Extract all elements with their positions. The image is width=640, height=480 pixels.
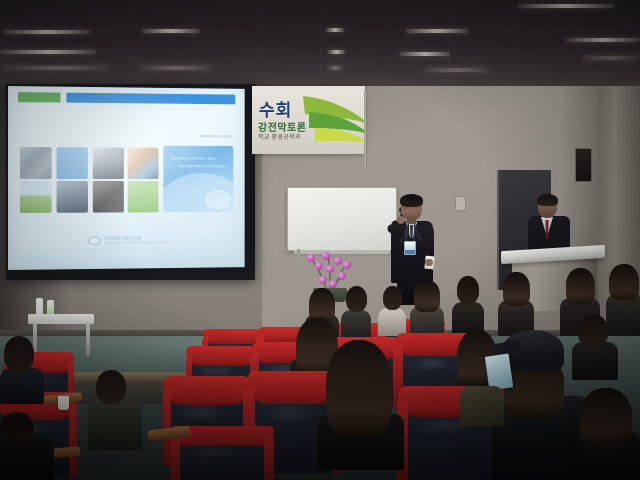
banner-title: 수회 (259, 96, 292, 121)
badge-color-strip (405, 250, 415, 254)
ceiling-light-fixture (518, 4, 614, 8)
ceiling-light-fixture (0, 50, 96, 54)
thumb-wind-turbine-field (20, 181, 52, 213)
presenter-lanyard (406, 224, 416, 242)
thumb-industrial-plant (56, 181, 87, 213)
audience-member (498, 272, 534, 334)
audience-long-hair (580, 388, 632, 446)
audience-member (341, 286, 371, 336)
ceiling-light-fixture (142, 29, 200, 33)
orchid-bloom (315, 262, 323, 270)
ceiling-light-fixture (566, 38, 640, 42)
ceiling-light-fixture (406, 29, 468, 33)
audience-member (318, 340, 404, 460)
seat-headrest-trim (186, 346, 255, 366)
slide-header-bar (18, 93, 236, 104)
slide-tagline-line2: Winning With Your Success (179, 162, 228, 169)
orchid-bloom (322, 252, 330, 260)
ceiling-light-fixture (328, 66, 343, 70)
slide-tagline-line1: Delivering Your Value Now (171, 156, 216, 161)
orchid-bloom (343, 261, 351, 269)
thumb-drill-machining (92, 147, 123, 179)
audience-member (452, 276, 484, 334)
audience-member (0, 336, 44, 400)
audience-member (88, 370, 142, 448)
orchid-bloom (329, 280, 337, 288)
thumb-green-swatch (128, 181, 159, 213)
audience-shoulders (378, 308, 406, 336)
audience-head (383, 286, 402, 310)
audience-member (460, 372, 504, 422)
ceiling-tile-grid (0, 0, 640, 92)
event-banner: 수회 강전막토론 학교 환경공학과 (252, 86, 365, 154)
side-table-leg (86, 322, 90, 356)
seat-highlight (187, 446, 244, 459)
audience-head (578, 314, 608, 348)
audience-member (378, 286, 406, 334)
audience-hair (609, 264, 639, 300)
projection-screen: www.kapec.com Delivering Your Value Now … (8, 86, 245, 270)
ceiling-light-fixture (582, 56, 640, 60)
orchid-bloom (319, 276, 327, 284)
whiteboard-stand-leg (297, 249, 300, 271)
footer-company-subtitle: KOREA CHEMICAL TESTING & RESEARCH INSTIT… (104, 242, 168, 246)
presenter-hair (400, 194, 423, 207)
thumb-blue-sky (56, 147, 87, 179)
presenter-name-badge (404, 241, 416, 255)
podium-speaker-hair (537, 194, 558, 206)
audience-hair (414, 280, 440, 312)
ceiling-light-fixture (326, 28, 344, 32)
audience-long-hair (326, 340, 392, 436)
slide-tagline-text: Delivering Your Value Now Winning With Y… (171, 155, 228, 170)
audience-shoulders (88, 400, 142, 450)
ceiling-light-fixture (4, 66, 110, 70)
slide-panel-logo: KAPEC (205, 190, 230, 209)
company-logo-icon (88, 236, 101, 245)
audience-hair (566, 268, 595, 304)
audience-arm-sleeve (460, 386, 504, 426)
audience-member (572, 314, 618, 376)
banner-swoosh-icon (299, 90, 365, 152)
wall-loudspeaker-icon (575, 148, 592, 182)
wall-outlet (455, 196, 466, 211)
seat-headrest-trim (163, 376, 250, 405)
audience-head (457, 276, 479, 304)
thumb-crowd (20, 147, 52, 179)
audience-head (96, 370, 126, 404)
audience-member (410, 280, 444, 336)
ceiling-light-fixture (4, 30, 90, 34)
thumb-hands-globe (128, 147, 159, 179)
ceiling-light-fixture (424, 68, 490, 72)
slide-thumbnail-grid (20, 147, 159, 213)
audience-hair (309, 288, 335, 322)
seat-side-right (69, 404, 77, 478)
seat-highlight (262, 403, 314, 424)
slide-header-green-block (18, 93, 60, 103)
paper-cup[interactable] (58, 396, 69, 410)
audience-shoulders (0, 368, 44, 404)
orchid-bloom (338, 272, 346, 280)
presenter-right-hand (425, 259, 433, 266)
slide-tagline-panel: Delivering Your Value Now Winning With Y… (164, 146, 234, 213)
audience-member (578, 388, 640, 480)
slide-footer-text: 한국화학시험연구원 KOREA CHEMICAL TESTING & RESEA… (104, 236, 168, 245)
orchid-bloom (307, 254, 315, 262)
conference-room-photo: www.kapec.com Delivering Your Value Now … (0, 0, 640, 480)
orchid-bloom (326, 265, 334, 273)
seat-highlight (409, 356, 454, 371)
slide-header-blue-block (67, 93, 236, 104)
ceiling-light-fixture (400, 52, 450, 56)
audience-hair (503, 272, 530, 306)
audience-head (4, 336, 34, 372)
ceiling-light-fixture (140, 66, 212, 70)
audience-head (346, 286, 367, 312)
side-table (28, 314, 94, 324)
banner-pole (364, 90, 367, 168)
banner-department: 학교 환경공학과 (258, 132, 301, 141)
thumb-keyboard (92, 181, 123, 213)
slide-url-text: www.kapec.com (200, 133, 231, 138)
seat-highlight (177, 404, 225, 422)
ceiling-light-fixture (328, 50, 345, 54)
audience-head (0, 412, 34, 446)
photo-caption: Conference hall presentation photograph (0, 470, 640, 480)
orchid-bloom (334, 257, 342, 265)
slide-footer: 한국화학시험연구원 KOREA CHEMICAL TESTING & RESEA… (8, 235, 245, 246)
seat-headrest-trim (203, 329, 261, 344)
audience-shoulders (341, 310, 371, 338)
